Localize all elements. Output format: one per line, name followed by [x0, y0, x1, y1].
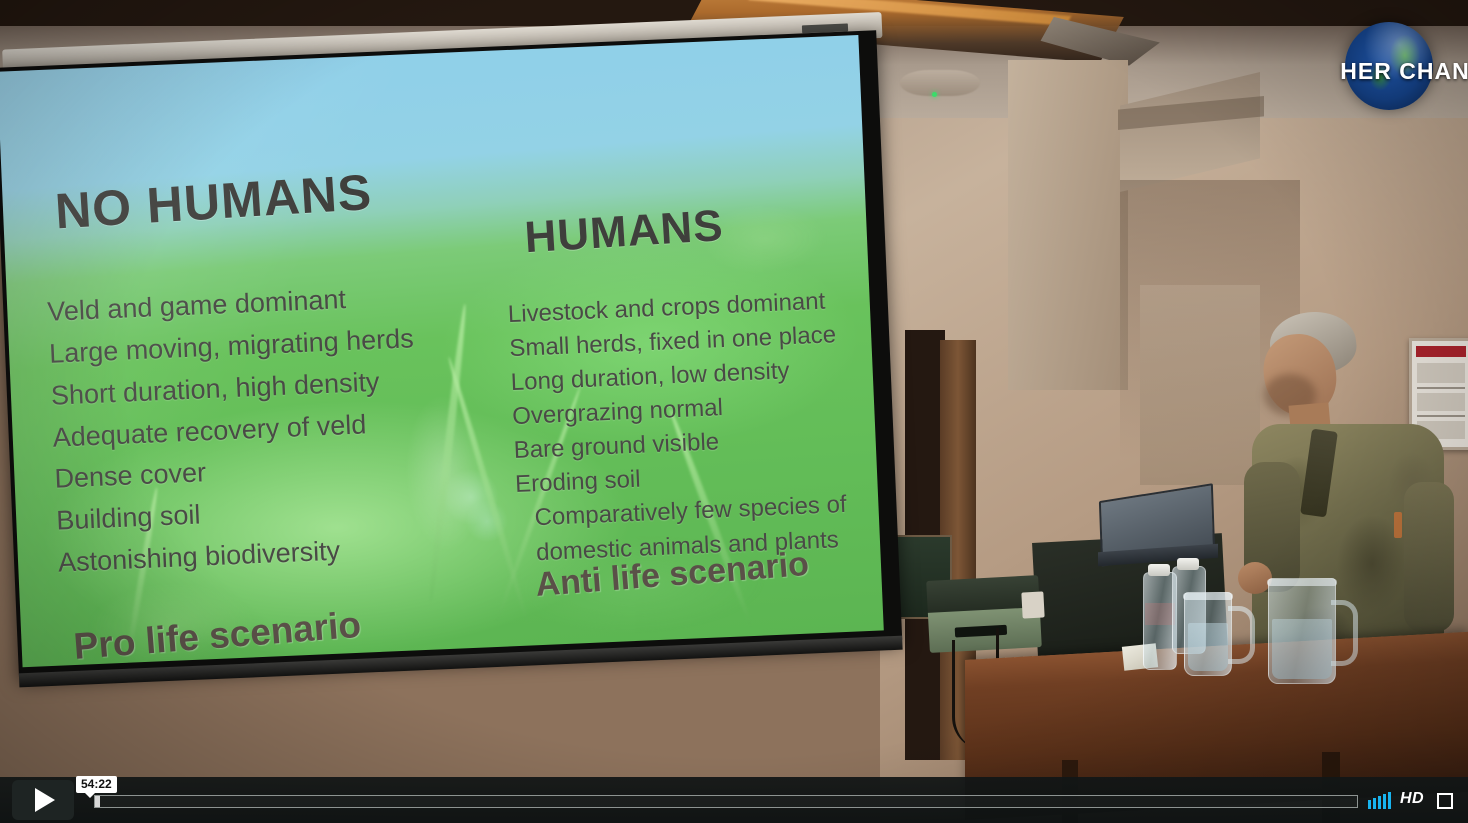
jug-rim	[1183, 593, 1233, 600]
player-controls: HD	[0, 777, 1468, 823]
slide-title-left: NO HUMANS	[53, 163, 373, 241]
volume-bar	[1368, 800, 1371, 809]
pitcher-handle	[1331, 600, 1358, 666]
volume-bar	[1383, 794, 1386, 809]
slide-title-right: HUMANS	[523, 201, 725, 263]
channel-watermark-text: HER CHAN	[1330, 58, 1468, 85]
slide-column-humans: Livestock and crops dominant Small herds…	[507, 283, 878, 571]
wall-outlet	[1021, 591, 1044, 618]
fullscreen-icon[interactable]	[1437, 793, 1453, 809]
jug-water	[1188, 623, 1228, 671]
jug-handle	[1228, 606, 1255, 664]
bottle-label	[1145, 603, 1175, 625]
volume-bar	[1373, 798, 1376, 809]
presenter-hand	[1238, 562, 1272, 594]
pitcher-water	[1272, 619, 1332, 679]
water-jug	[1184, 592, 1232, 676]
quality-hd-button[interactable]: HD	[1400, 790, 1424, 808]
ceiling-sensor	[900, 70, 980, 96]
video-player-stage: NO HUMANS HUMANS Veld and game dominant …	[0, 0, 1468, 823]
projection-screen: NO HUMANS HUMANS Veld and game dominant …	[0, 8, 921, 746]
wall-panel	[1140, 285, 1260, 485]
slide-column-no-humans: Veld and game dominant Large moving, mig…	[47, 274, 479, 585]
bottle-cap	[1177, 558, 1199, 570]
presenter-right-arm	[1404, 482, 1454, 632]
play-icon	[35, 788, 55, 812]
shirt-pocket-tag	[1394, 512, 1402, 538]
bottle-cap	[1148, 564, 1170, 576]
wall-column	[1008, 60, 1128, 390]
status-led-icon	[932, 92, 937, 97]
pitcher-rim	[1267, 579, 1337, 586]
play-button[interactable]	[12, 780, 74, 820]
volume-control[interactable]	[1368, 792, 1391, 809]
fs-corner	[1444, 800, 1453, 809]
water-pitcher	[1268, 578, 1336, 684]
progress-bar[interactable]	[94, 795, 1358, 808]
slide-surface: NO HUMANS HUMANS Veld and game dominant …	[0, 35, 884, 667]
time-tooltip: 54:22	[76, 776, 117, 793]
slide-content: NO HUMANS HUMANS Veld and game dominant …	[0, 35, 884, 667]
progress-fill	[95, 796, 100, 807]
volume-bar	[1388, 792, 1391, 809]
volume-bar	[1378, 796, 1381, 809]
